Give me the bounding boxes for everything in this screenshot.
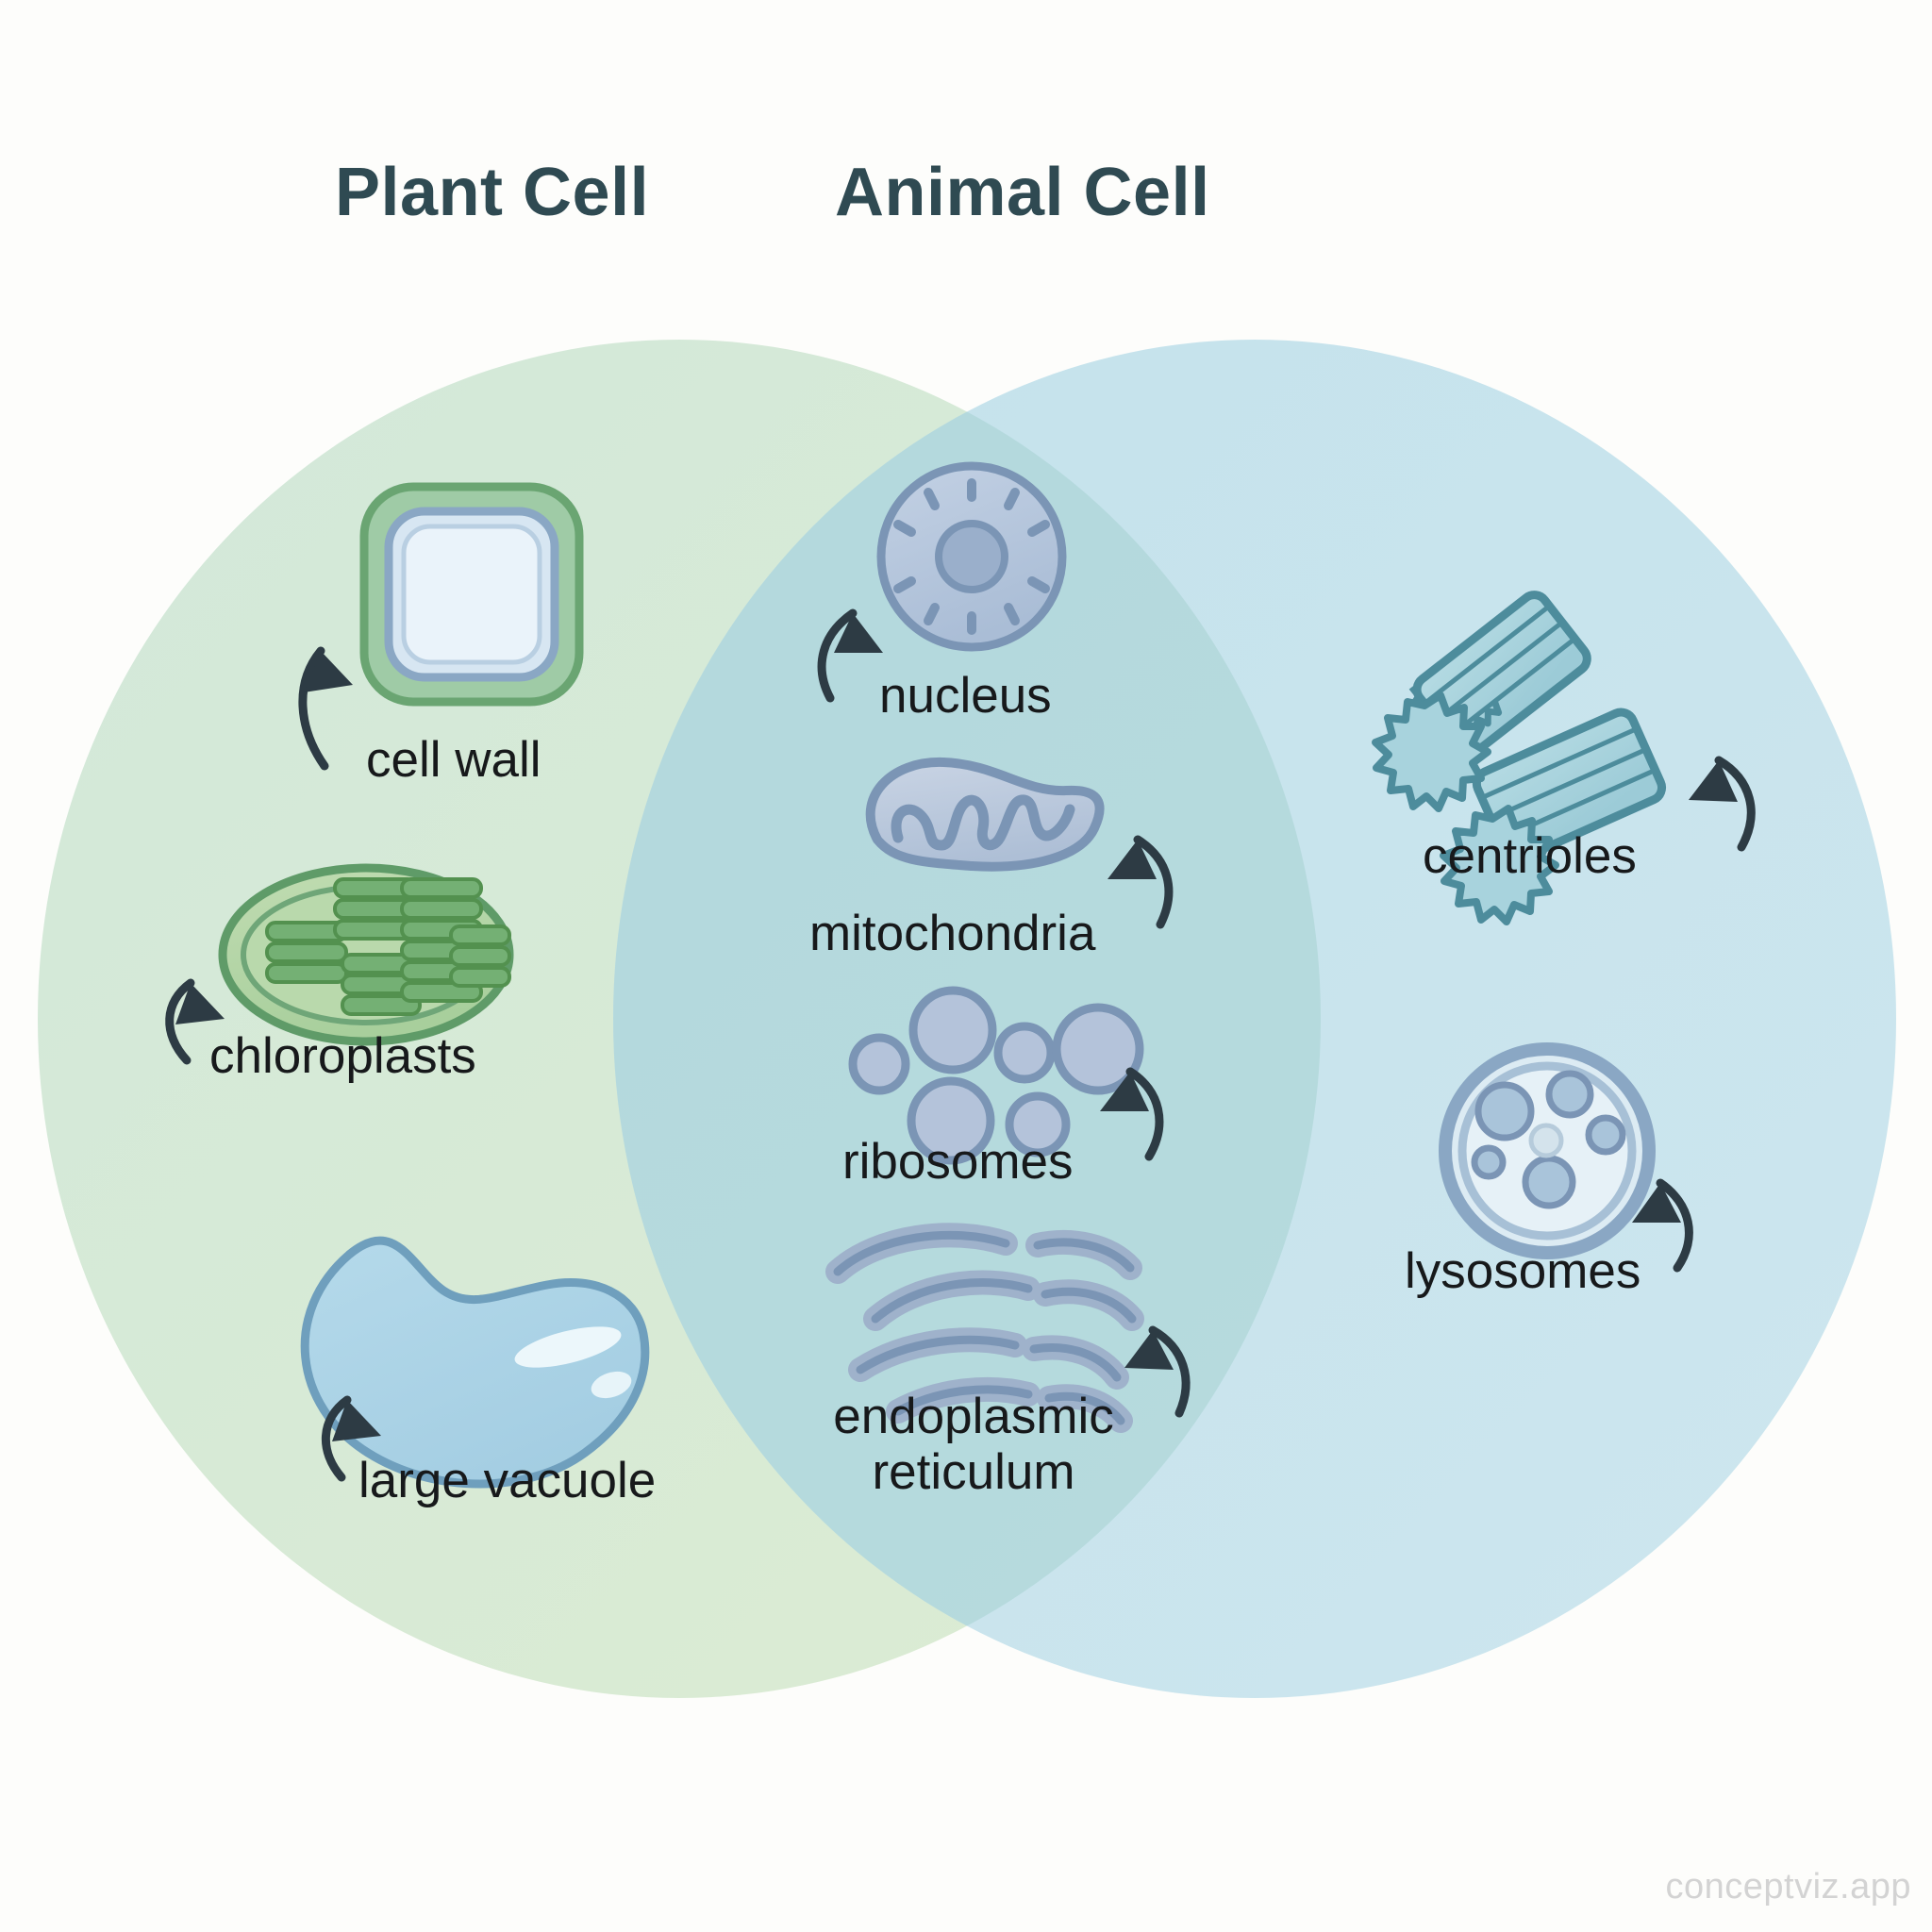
chloroplasts-label: chloroplasts [209, 1028, 476, 1084]
plant-cell-title: Plant Cell [335, 154, 649, 231]
cell-wall-label: cell wall [366, 732, 541, 788]
ribosomes-label: ribosomes [842, 1134, 1073, 1190]
venn-diagram-graphics [0, 0, 1932, 1932]
endoplasmic-reticulum-label-line1: endoplasmic [833, 1389, 1114, 1444]
centrioles-label: centrioles [1423, 828, 1637, 884]
watermark: conceptviz.app [1666, 1867, 1912, 1907]
mitochondria-label: mitochondria [809, 906, 1095, 961]
nucleus-label: nucleus [879, 668, 1052, 724]
venn-diagram-canvas: Plant Cell Animal Cell cell wall chlorop… [0, 0, 1932, 1932]
lysosomes-label: lysosomes [1405, 1243, 1641, 1299]
cell-wall-icon [364, 487, 579, 702]
lysosomes-icon [1445, 1049, 1649, 1253]
animal-cell-title: Animal Cell [835, 154, 1210, 231]
vacuole-label: large vacuole [358, 1453, 656, 1508]
chloroplast-icon [223, 868, 509, 1041]
endoplasmic-reticulum-label-line2: reticulum [872, 1444, 1074, 1500]
nucleus-icon [881, 466, 1062, 647]
